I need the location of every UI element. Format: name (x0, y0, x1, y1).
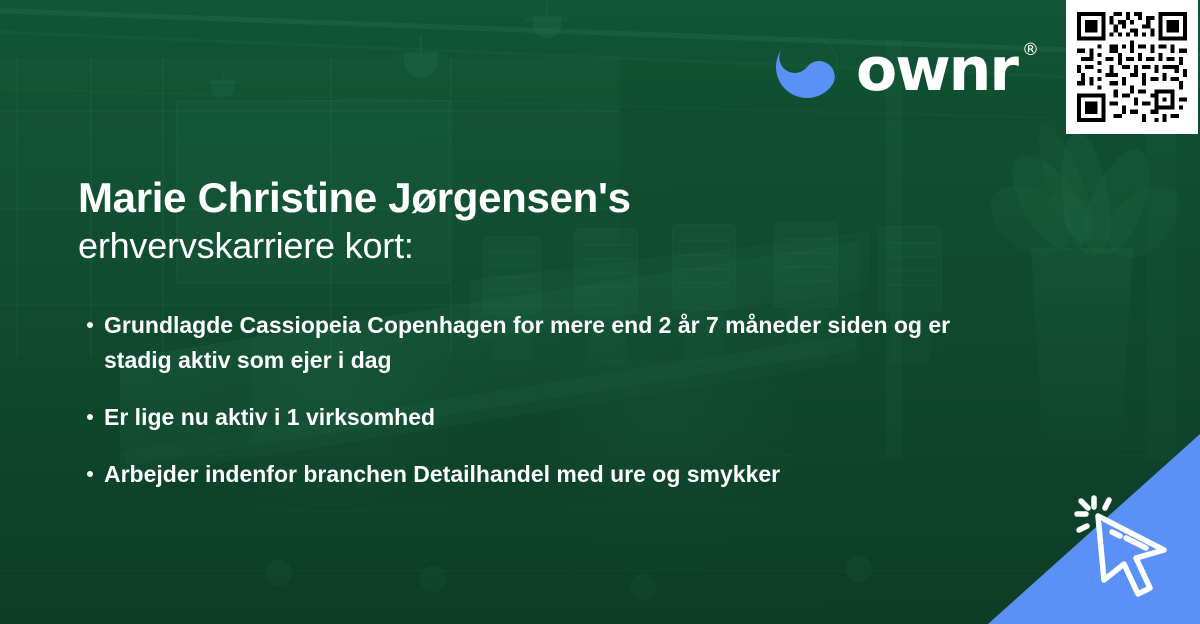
headline-line-2: erhvervskarriere kort: (78, 223, 908, 270)
list-item: Arbejder indenfor branchen Detailhandel … (78, 457, 978, 492)
card-content: ownr® (0, 0, 1200, 624)
ownr-logo[interactable]: ownr® (776, 36, 1017, 103)
page-title: Marie Christine Jørgensen's erhvervskarr… (78, 173, 908, 269)
business-career-card: ownr® (0, 0, 1200, 624)
list-item: Er lige nu aktiv i 1 virksomhed (78, 400, 978, 435)
ownr-swirl-logo-icon (776, 36, 838, 103)
ownr-wordmark: ownr® (856, 40, 1017, 100)
qr-code-icon[interactable] (1066, 0, 1198, 134)
click-cursor-icon (1068, 488, 1188, 608)
ownr-wordmark-text: ownr (856, 35, 1017, 105)
headline-line-1: Marie Christine Jørgensen's (78, 173, 908, 223)
career-facts-list: Grundlagde Cassiopeia Copenhagen for mer… (78, 308, 978, 514)
list-item: Grundlagde Cassiopeia Copenhagen for mer… (78, 308, 978, 378)
registered-trademark-symbol: ® (1022, 42, 1039, 59)
